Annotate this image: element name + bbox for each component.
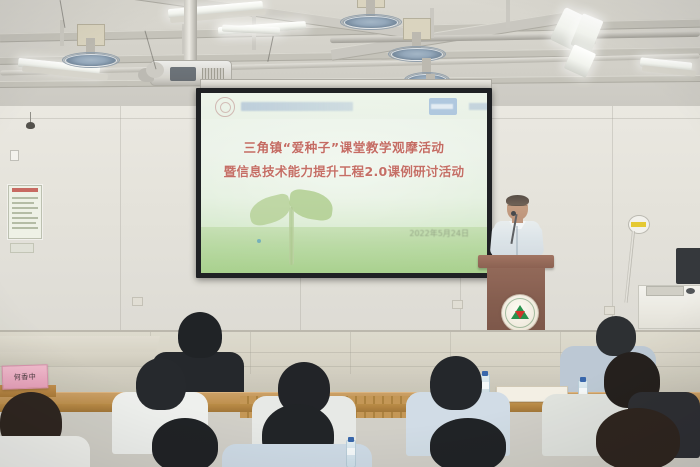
wall-socket (604, 306, 615, 315)
leaf-left-icon (246, 192, 293, 227)
name-placard-text: 何香中 (3, 371, 47, 383)
podium-top (478, 255, 554, 268)
accent-dot-icon (257, 239, 261, 243)
keyboard[interactable] (646, 286, 684, 296)
projection-screen: 三角镇“爱种子”课堂教学观摩活动 暨信息技术能力提升工程2.0课例研讨活动 20… (196, 88, 492, 278)
slide-title-line1: 三角镇“爱种子”课堂教学观摩活动 (201, 137, 487, 156)
wall-lamp (26, 122, 35, 129)
school-seal-icon (215, 97, 235, 117)
school-crest-emblem (501, 294, 539, 332)
ceiling-riser (506, 0, 510, 28)
wall-socket (452, 300, 463, 309)
classroom-photo-scene: 三角镇“爱种子”课堂教学观摩活动 暨信息技术能力提升工程2.0课例研讨活动 20… (0, 0, 700, 467)
wall-notice-poster (8, 185, 42, 239)
attendee-front-row-head (596, 408, 680, 467)
slide-header-badge-text (431, 104, 453, 109)
microphone-icon (511, 211, 516, 216)
projected-slide: 三角镇“爱种子”课堂教学观摩活动 暨信息技术能力提升工程2.0课例研讨活动 20… (201, 93, 487, 273)
attendee-back-row-male-head (178, 312, 222, 358)
attendee-front-row-body (0, 436, 90, 467)
speaker-person (494, 196, 540, 258)
attendee-front-row-head (430, 418, 506, 467)
wall-socket (132, 297, 143, 306)
slide-header-text-secondary (469, 103, 487, 110)
slide-date: 2022年5月24日 (409, 228, 469, 239)
attendee-front-row-head (152, 418, 218, 467)
attendee-light-blue-shirt-head (430, 356, 482, 410)
water-bottle (346, 440, 356, 467)
wall-notice-small (10, 243, 34, 253)
ceiling-fan (388, 32, 444, 60)
name-placard: 何香中 (2, 364, 49, 390)
ceiling-fan (340, 0, 400, 28)
attendee-light-blue-shirt-head (596, 316, 636, 356)
slide-header-text (241, 102, 353, 111)
sprout-graphic (247, 189, 337, 267)
stem-icon (289, 207, 294, 265)
leaf-right-icon (287, 188, 334, 222)
slide-title-line2: 暨信息技术能力提升工程2.0课例研讨活动 (201, 161, 487, 180)
glasses-icon (508, 205, 527, 210)
light-switch[interactable] (10, 150, 19, 161)
attendee-white-shirt-head (136, 358, 186, 410)
computer-monitor (676, 248, 700, 284)
ceiling-fan (62, 38, 118, 68)
shirt-placket (516, 226, 518, 256)
mouse[interactable] (686, 288, 695, 294)
emblem-chevron-icon (515, 311, 525, 319)
